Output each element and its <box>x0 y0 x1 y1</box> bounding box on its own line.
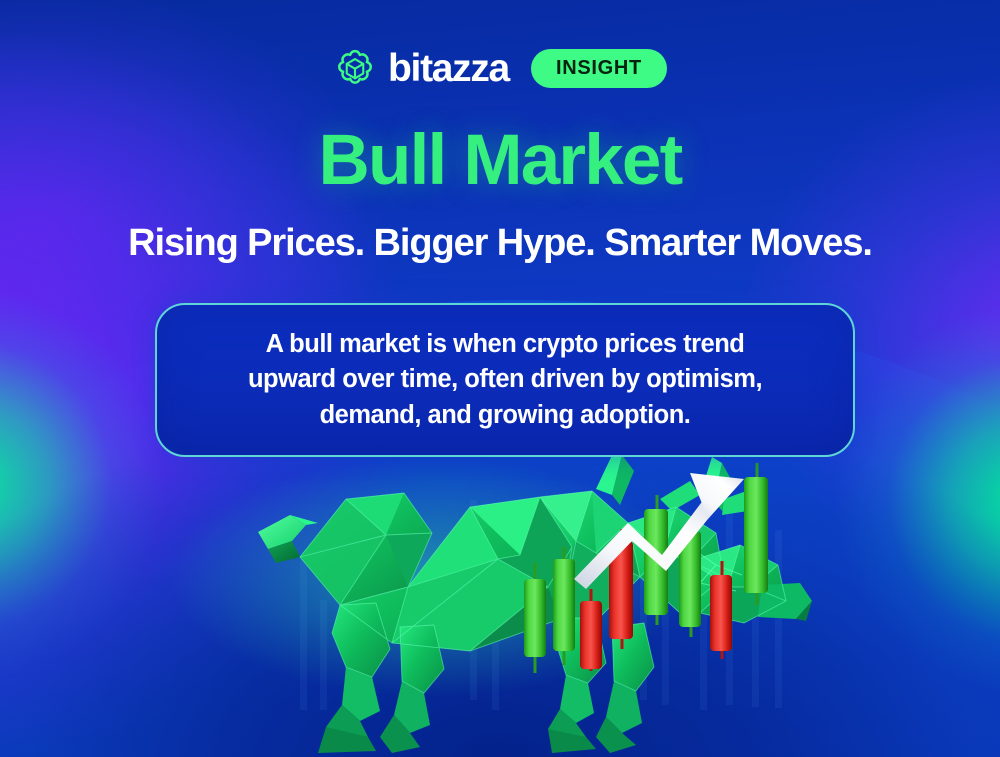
candle-up-2 <box>553 547 575 665</box>
bitazza-logo-icon <box>333 46 377 90</box>
page-title: Bull Market <box>0 123 1000 198</box>
description-card-text: A bull market is when crypto prices tren… <box>222 327 788 433</box>
brand-name: bitazza <box>388 49 509 88</box>
bull-market-insight-poster: bitazza INSIGHT Bull Market Rising Price… <box>0 0 1000 757</box>
candle-up-1 <box>524 563 546 673</box>
insight-badge: INSIGHT <box>531 49 667 88</box>
description-card: A bull market is when crypto prices tren… <box>155 303 855 457</box>
artwork-svg <box>0 437 1000 757</box>
header: bitazza INSIGHT <box>0 46 1000 90</box>
candle-down-7 <box>710 561 732 659</box>
page-subtitle: Rising Prices. Bigger Hype. Smarter Move… <box>0 222 1000 266</box>
artwork-container <box>0 437 1000 757</box>
brand-lockup: bitazza <box>333 46 509 90</box>
candle-up-8 <box>744 463 768 605</box>
candle-down-3 <box>580 589 602 671</box>
